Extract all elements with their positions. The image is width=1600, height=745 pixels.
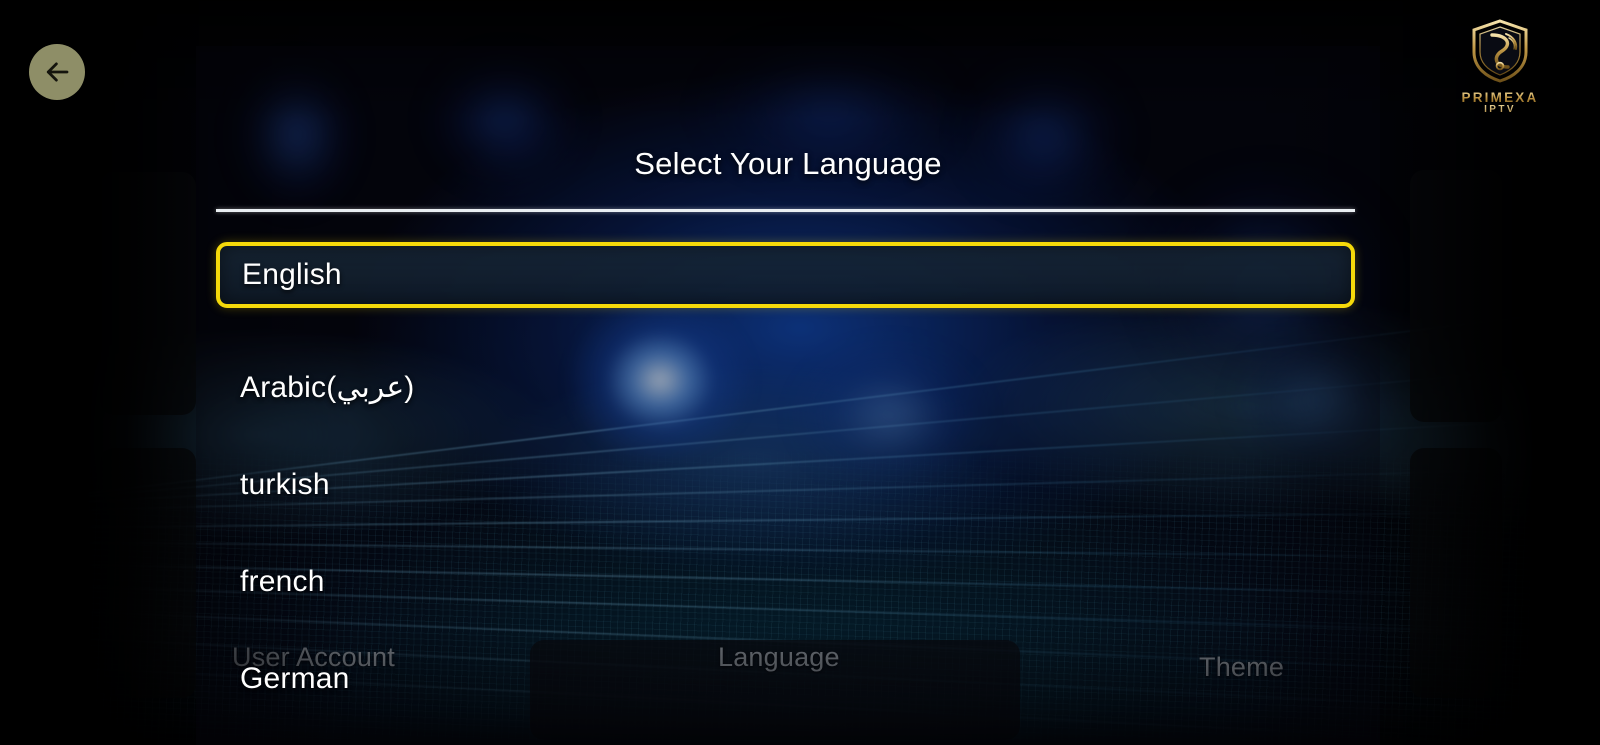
dialog-divider xyxy=(216,209,1355,212)
language-option-label: turkish xyxy=(196,468,330,502)
language-option-french[interactable]: french xyxy=(196,533,1380,630)
arrow-left-icon xyxy=(42,57,72,87)
shield-logo-icon xyxy=(1455,18,1545,89)
language-option-label: English xyxy=(220,258,342,292)
list-spacer xyxy=(196,308,1380,339)
language-option-list: English Arabic(عربي) turkish french Germ… xyxy=(196,242,1380,727)
language-dialog: Select Your Language English Arabic(عربي… xyxy=(196,46,1380,745)
dialog-title: Select Your Language xyxy=(196,146,1380,182)
language-option-turkish[interactable]: turkish xyxy=(196,436,1380,533)
language-option-label: Arabic(عربي) xyxy=(196,370,414,405)
app-logo: PRIMEXA IPTV xyxy=(1455,18,1545,123)
language-option-arabic[interactable]: Arabic(عربي) xyxy=(196,339,1380,436)
back-button[interactable] xyxy=(29,44,85,100)
logo-brand-name: PRIMEXA xyxy=(1455,90,1545,105)
language-option-english[interactable]: English xyxy=(216,242,1355,308)
logo-brand-sub: IPTV xyxy=(1455,104,1545,115)
language-option-german[interactable]: German xyxy=(196,630,1380,727)
language-option-label: German xyxy=(196,662,350,696)
language-option-label: french xyxy=(196,565,325,599)
